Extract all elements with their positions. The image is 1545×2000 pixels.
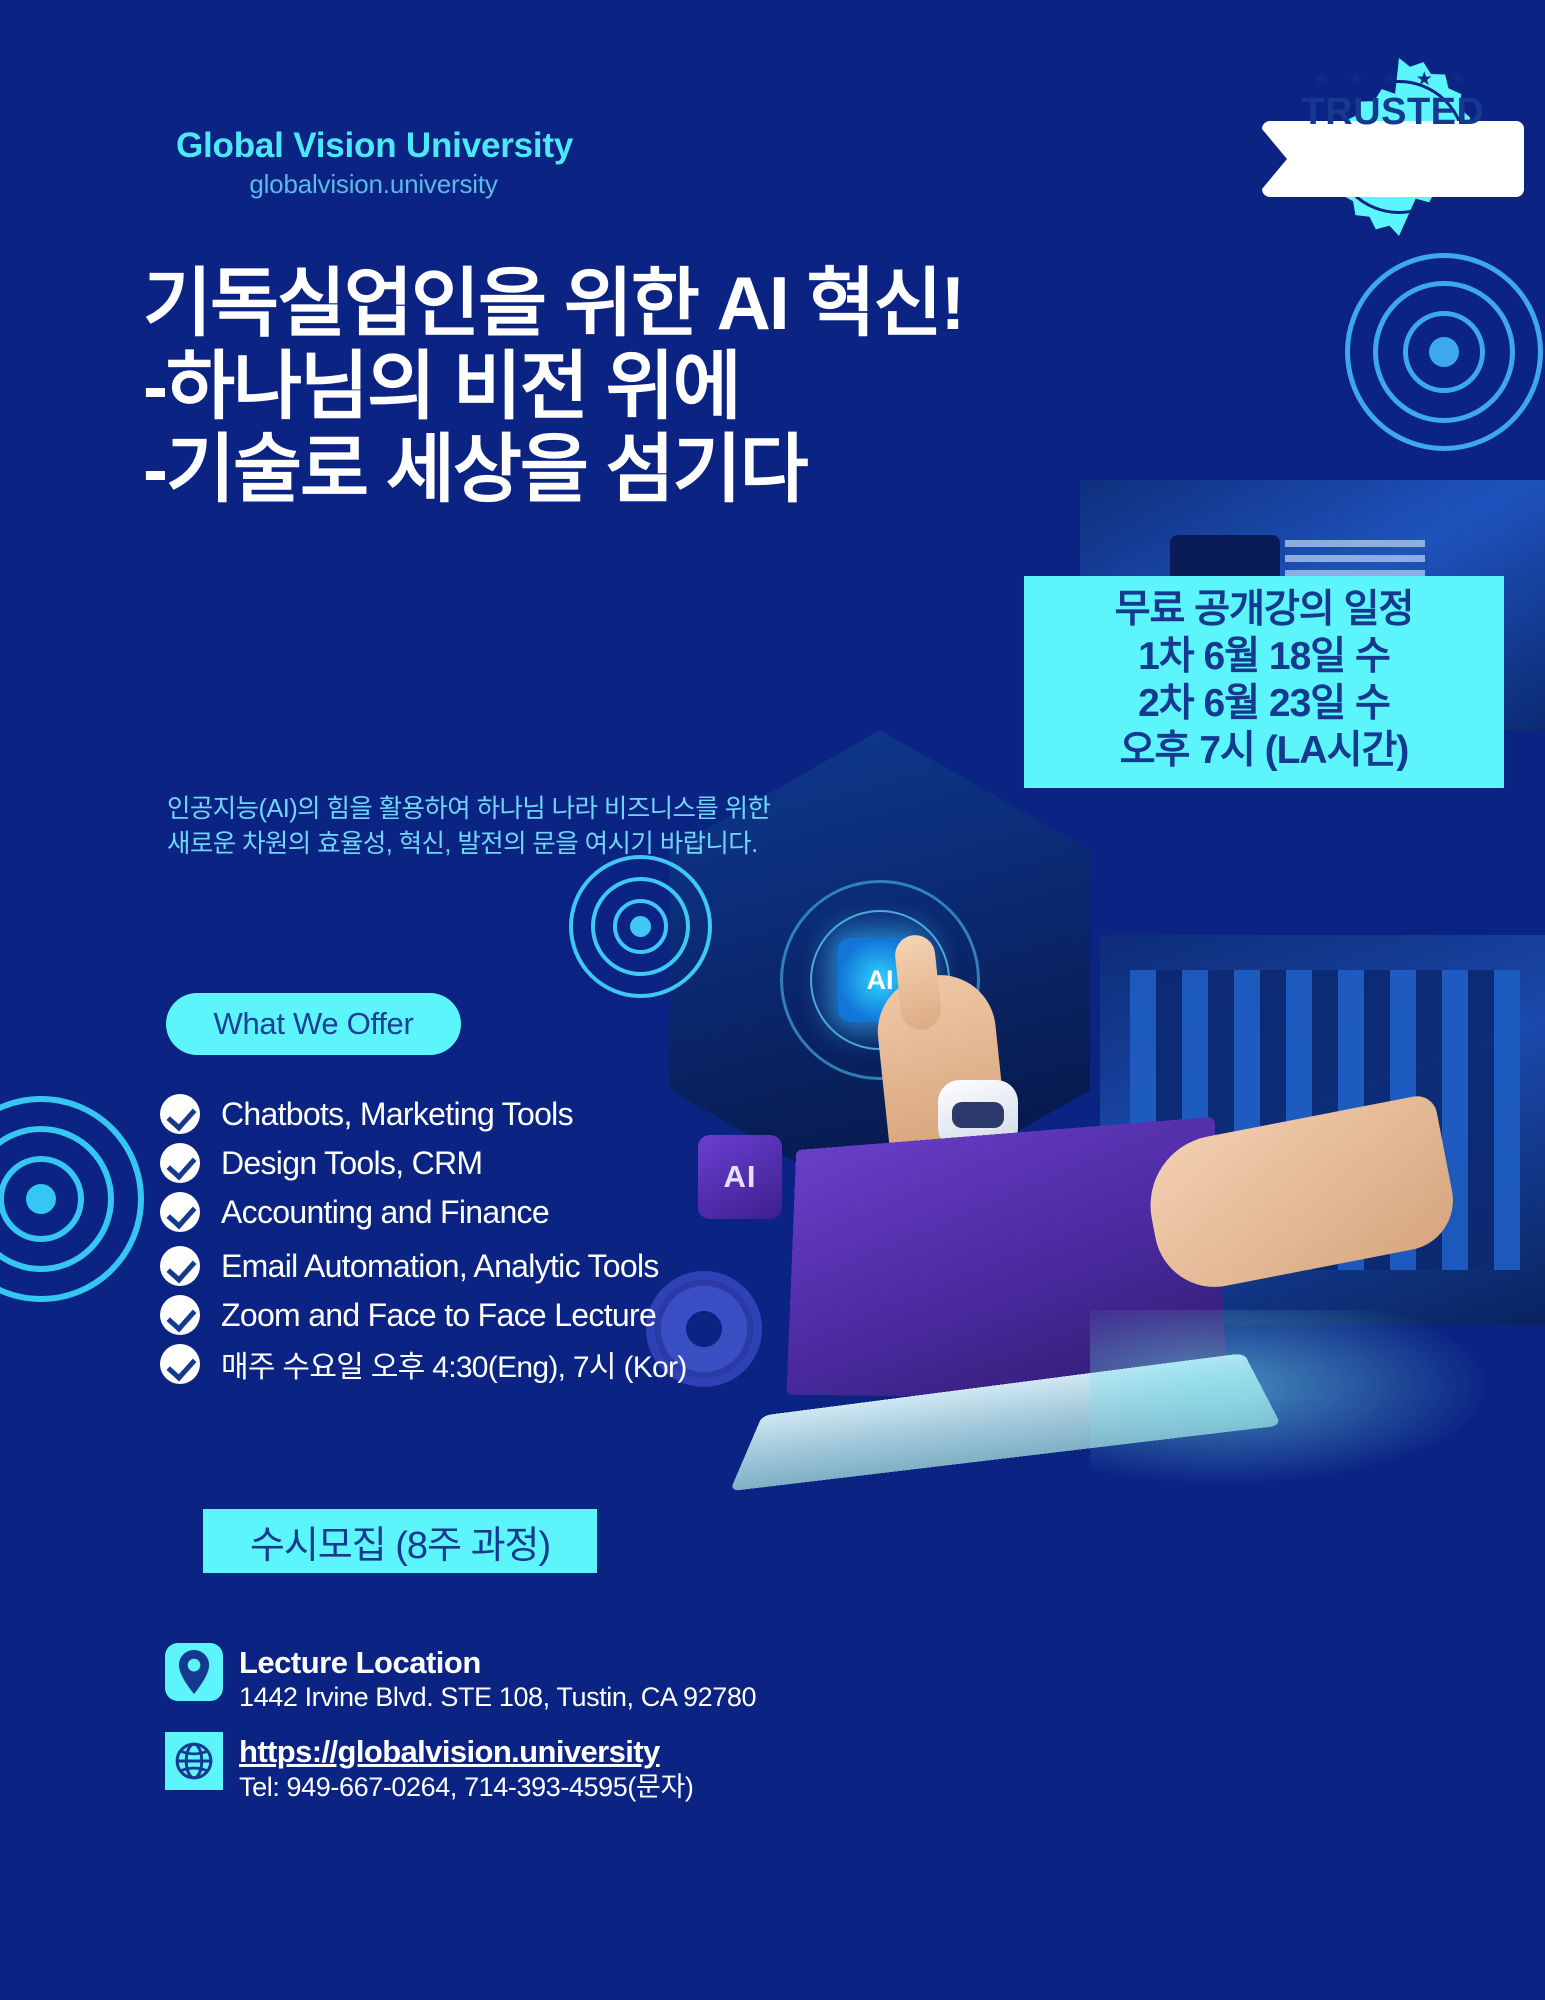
list-item: Accounting and Finance (160, 1192, 880, 1232)
list-item-label: 매주 수요일 오후 4:30(Eng), 7시 (Kor) (221, 1342, 687, 1386)
description-line-1: 인공지능(AI)의 힘을 활용하여 하나님 나라 비즈니스를 위한 (167, 792, 847, 827)
check-circle-icon (160, 1192, 200, 1232)
schedule-title: 무료 공개강의 일정 (1040, 586, 1488, 633)
list-item: Chatbots, Marketing Tools (160, 1094, 880, 1134)
wave-decoration (1090, 1310, 1530, 1500)
contact-web-row: https://globalvision.university Tel: 949… (165, 1732, 1025, 1804)
server-screens (1130, 970, 1520, 1270)
contact-section: Lecture Location 1442 Irvine Blvd. STE 1… (165, 1643, 1025, 1822)
list-item-label: Zoom and Face to Face Lecture (221, 1297, 656, 1334)
list-item: Zoom and Face to Face Lecture (160, 1295, 880, 1335)
list-item-label: Chatbots, Marketing Tools (221, 1096, 573, 1133)
robot-image (890, 1080, 1065, 1410)
what-we-offer-label: What We Offer (214, 1006, 414, 1042)
brand-header: Global Vision University globalvision.un… (176, 128, 796, 200)
check-circle-icon (160, 1094, 200, 1134)
brand-name: Global Vision University (176, 128, 796, 165)
pointing-finger (893, 933, 943, 1032)
list-item-label: Accounting and Finance (221, 1194, 549, 1231)
list-item: Design Tools, CRM (160, 1143, 880, 1183)
bottom-strip (0, 1982, 1545, 2000)
headline-line-3: -기술로 세상을 섬기다 (143, 428, 1093, 511)
location-pin-icon (165, 1643, 223, 1701)
ai-glow-ring (780, 880, 980, 1080)
ai-glow-ring-inner (810, 910, 950, 1050)
main-headline: 기독실업인을 위한 AI 혁신! -하나님의 비전 위에 -기술로 세상을 섬기… (143, 262, 1093, 511)
ai-chip-label: AI (867, 965, 894, 996)
description-line-2: 새로운 차원의 효율성, 혁신, 발전의 문을 여시기 바랍니다. (167, 827, 847, 862)
rating-stars: ★ ★ ★ ★ ★ (1262, 70, 1524, 89)
contact-location-row: Lecture Location 1442 Irvine Blvd. STE 1… (165, 1643, 1025, 1714)
list-item-label: Design Tools, CRM (221, 1145, 482, 1182)
enrollment-label: 수시모집 (8주 과정) (250, 1514, 550, 1569)
poster-canvas: AI AI (0, 0, 1545, 2000)
headline-line-1: 기독실업인을 위한 AI 혁신! (143, 262, 1093, 345)
website-link[interactable]: https://globalvision.university (239, 1734, 693, 1770)
offer-checklist: Chatbots, Marketing Tools Design Tools, … (160, 1094, 880, 1393)
headline-line-2: -하나님의 비전 위에 (143, 345, 1093, 428)
list-item-label: Email Automation, Analytic Tools (221, 1248, 659, 1285)
check-circle-icon (160, 1143, 200, 1183)
trusted-badge: ★ ★ ★ ★ ★ TRUSTED (1262, 58, 1524, 280)
concentric-rings-bottom-left (0, 1096, 146, 1304)
ai-chip-icon: AI (838, 938, 922, 1022)
web-text-group: https://globalvision.university Tel: 949… (239, 1732, 693, 1804)
check-circle-icon (160, 1246, 200, 1286)
schedule-box: 무료 공개강의 일정 1차 6월 18일 수 2차 6월 23일 수 오후 7시… (1024, 576, 1504, 788)
enrollment-badge: 수시모집 (8주 과정) (203, 1509, 597, 1573)
location-text-group: Lecture Location 1442 Irvine Blvd. STE 1… (239, 1643, 756, 1714)
check-circle-icon (160, 1295, 200, 1335)
trusted-label: TRUSTED (1262, 91, 1524, 134)
phone-numbers: Tel: 949-667-0264, 714-393-4595(문자) (239, 1770, 693, 1804)
brand-url: globalvision.university (176, 169, 571, 200)
schedule-session-1: 1차 6월 18일 수 (1040, 633, 1488, 680)
list-item: Email Automation, Analytic Tools (160, 1246, 880, 1286)
pointing-hand-image (872, 970, 1015, 1231)
typing-hand-image (1138, 1093, 1461, 1297)
location-address: 1442 Irvine Blvd. STE 108, Tustin, CA 92… (239, 1680, 756, 1714)
description-paragraph: 인공지능(AI)의 힘을 활용하여 하나님 나라 비즈니스를 위한 새로운 차원… (167, 792, 847, 862)
schedule-session-2: 2차 6월 23일 수 (1040, 680, 1488, 727)
concentric-rings-top-right (1345, 253, 1545, 453)
concentric-rings-mid-left (569, 855, 714, 1000)
what-we-offer-pill: What We Offer (166, 993, 461, 1055)
schedule-time: 오후 7시 (LA시간) (1040, 727, 1488, 774)
check-circle-icon (160, 1344, 200, 1384)
data-center-image (1100, 935, 1545, 1325)
location-title: Lecture Location (239, 1645, 756, 1680)
globe-icon[interactable] (165, 1732, 223, 1790)
list-item: 매주 수요일 오후 4:30(Eng), 7시 (Kor) (160, 1344, 880, 1384)
